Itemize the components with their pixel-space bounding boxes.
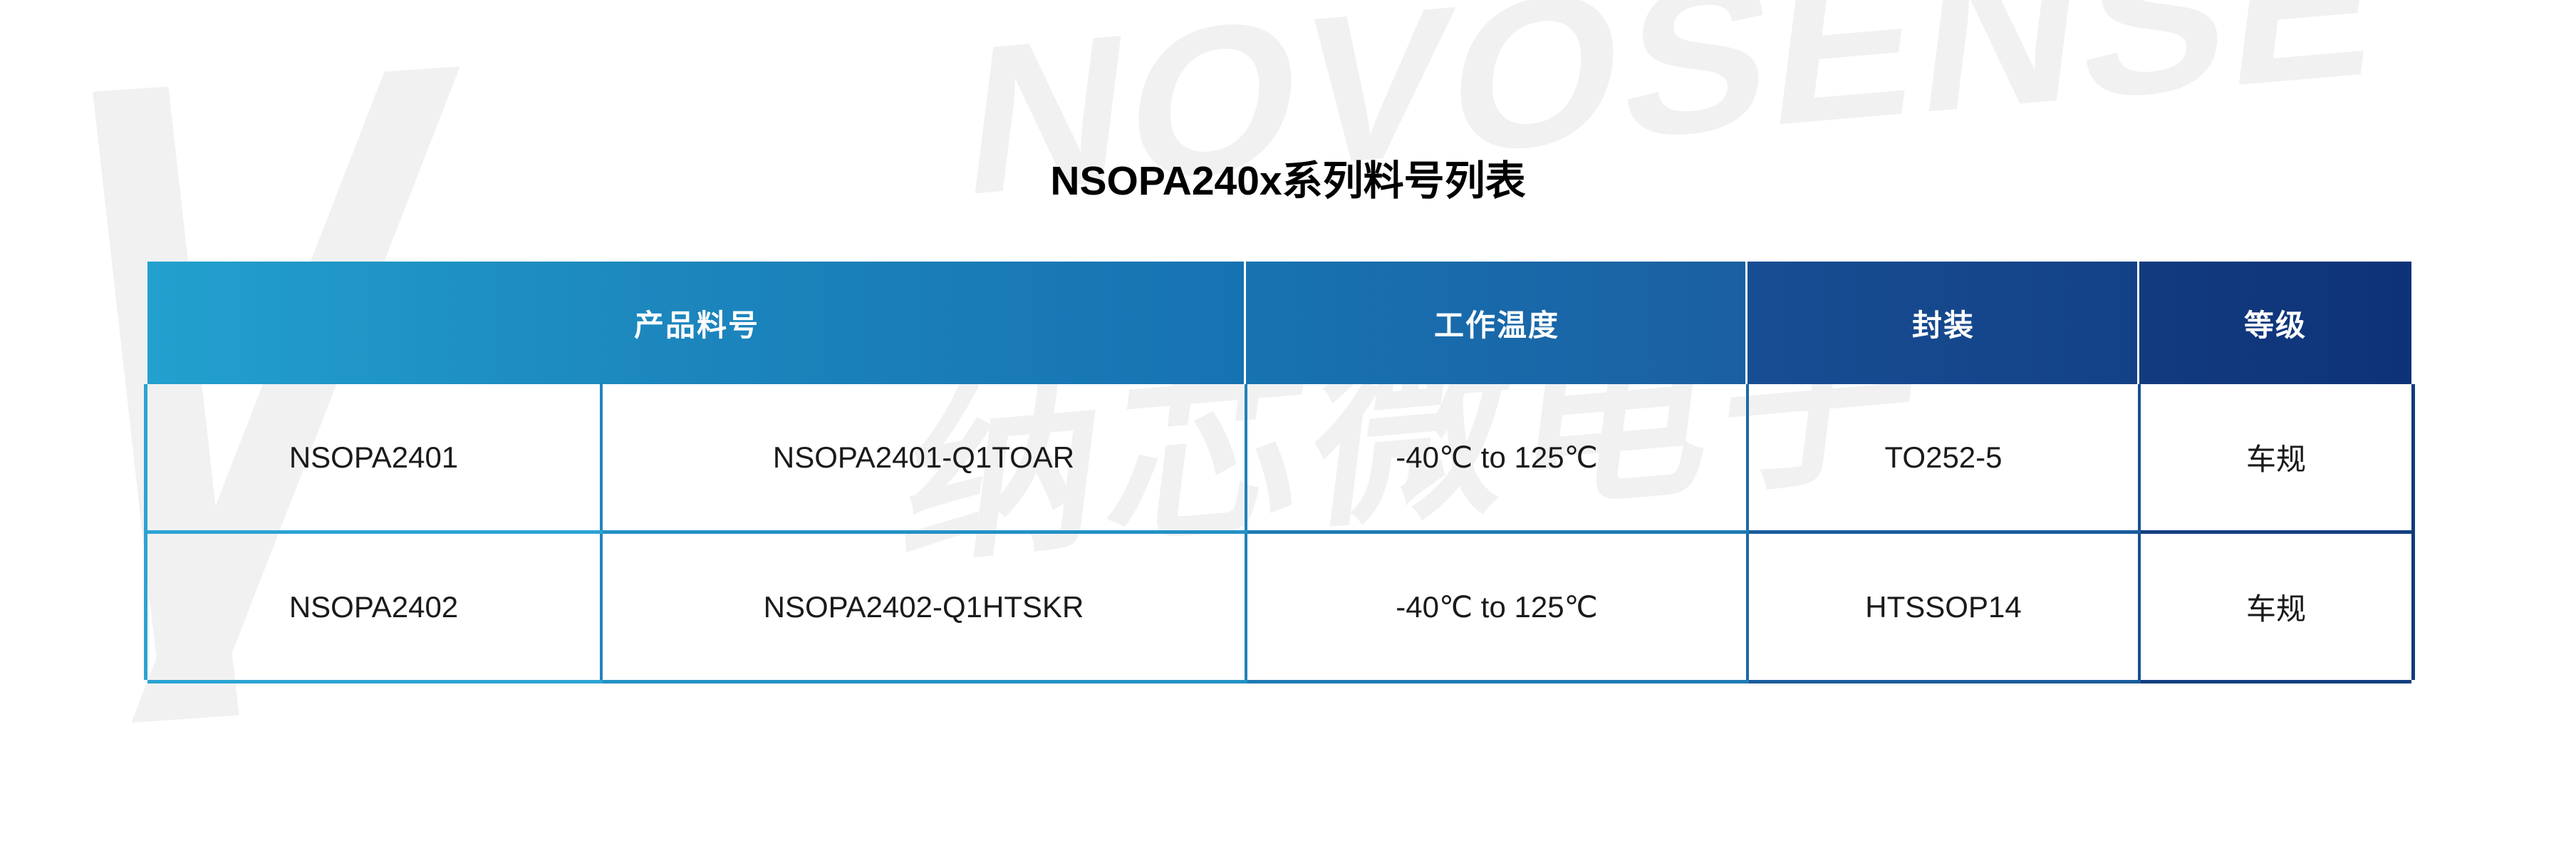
part-number-table: 产品料号 工作温度 封装 等级 NSOPA2401 NSOPA2401-Q1TO…	[147, 262, 2411, 683]
table-header-row: 产品料号 工作温度 封装 等级	[147, 262, 2411, 384]
cell-part-base: NSOPA2401	[147, 384, 601, 532]
table-header: 产品料号 工作温度 封装 等级	[147, 262, 2411, 384]
cell-package: HTSSOP14	[1747, 532, 2139, 682]
column-header-operating-temperature: 工作温度	[1246, 262, 1747, 384]
column-header-product-part-number: 产品料号	[147, 262, 1246, 384]
part-number-table-container: 产品料号 工作温度 封装 等级 NSOPA2401 NSOPA2401-Q1TO…	[147, 262, 2411, 683]
cell-package: TO252-5	[1747, 384, 2139, 532]
column-header-package: 封装	[1747, 262, 2139, 384]
cell-grade: 车规	[2139, 532, 2411, 682]
table-row: NSOPA2402 NSOPA2402-Q1HTSKR -40℃ to 125℃…	[147, 532, 2411, 682]
cell-order-number: NSOPA2402-Q1HTSKR	[601, 532, 1246, 682]
table-right-rail	[2411, 384, 2415, 680]
column-header-grade: 等级	[2139, 262, 2411, 384]
cell-temperature: -40℃ to 125℃	[1246, 384, 1747, 532]
table-left-rail	[144, 384, 147, 680]
cell-order-number: NSOPA2401-Q1TOAR	[601, 384, 1246, 532]
table-row: NSOPA2401 NSOPA2401-Q1TOAR -40℃ to 125℃ …	[147, 384, 2411, 532]
page-title: NSOPA240x系列料号列表	[0, 148, 2576, 207]
cell-temperature: -40℃ to 125℃	[1246, 532, 1747, 682]
cell-part-base: NSOPA2402	[147, 532, 601, 682]
cell-grade: 车规	[2139, 384, 2411, 532]
table-body: NSOPA2401 NSOPA2401-Q1TOAR -40℃ to 125℃ …	[147, 384, 2411, 682]
